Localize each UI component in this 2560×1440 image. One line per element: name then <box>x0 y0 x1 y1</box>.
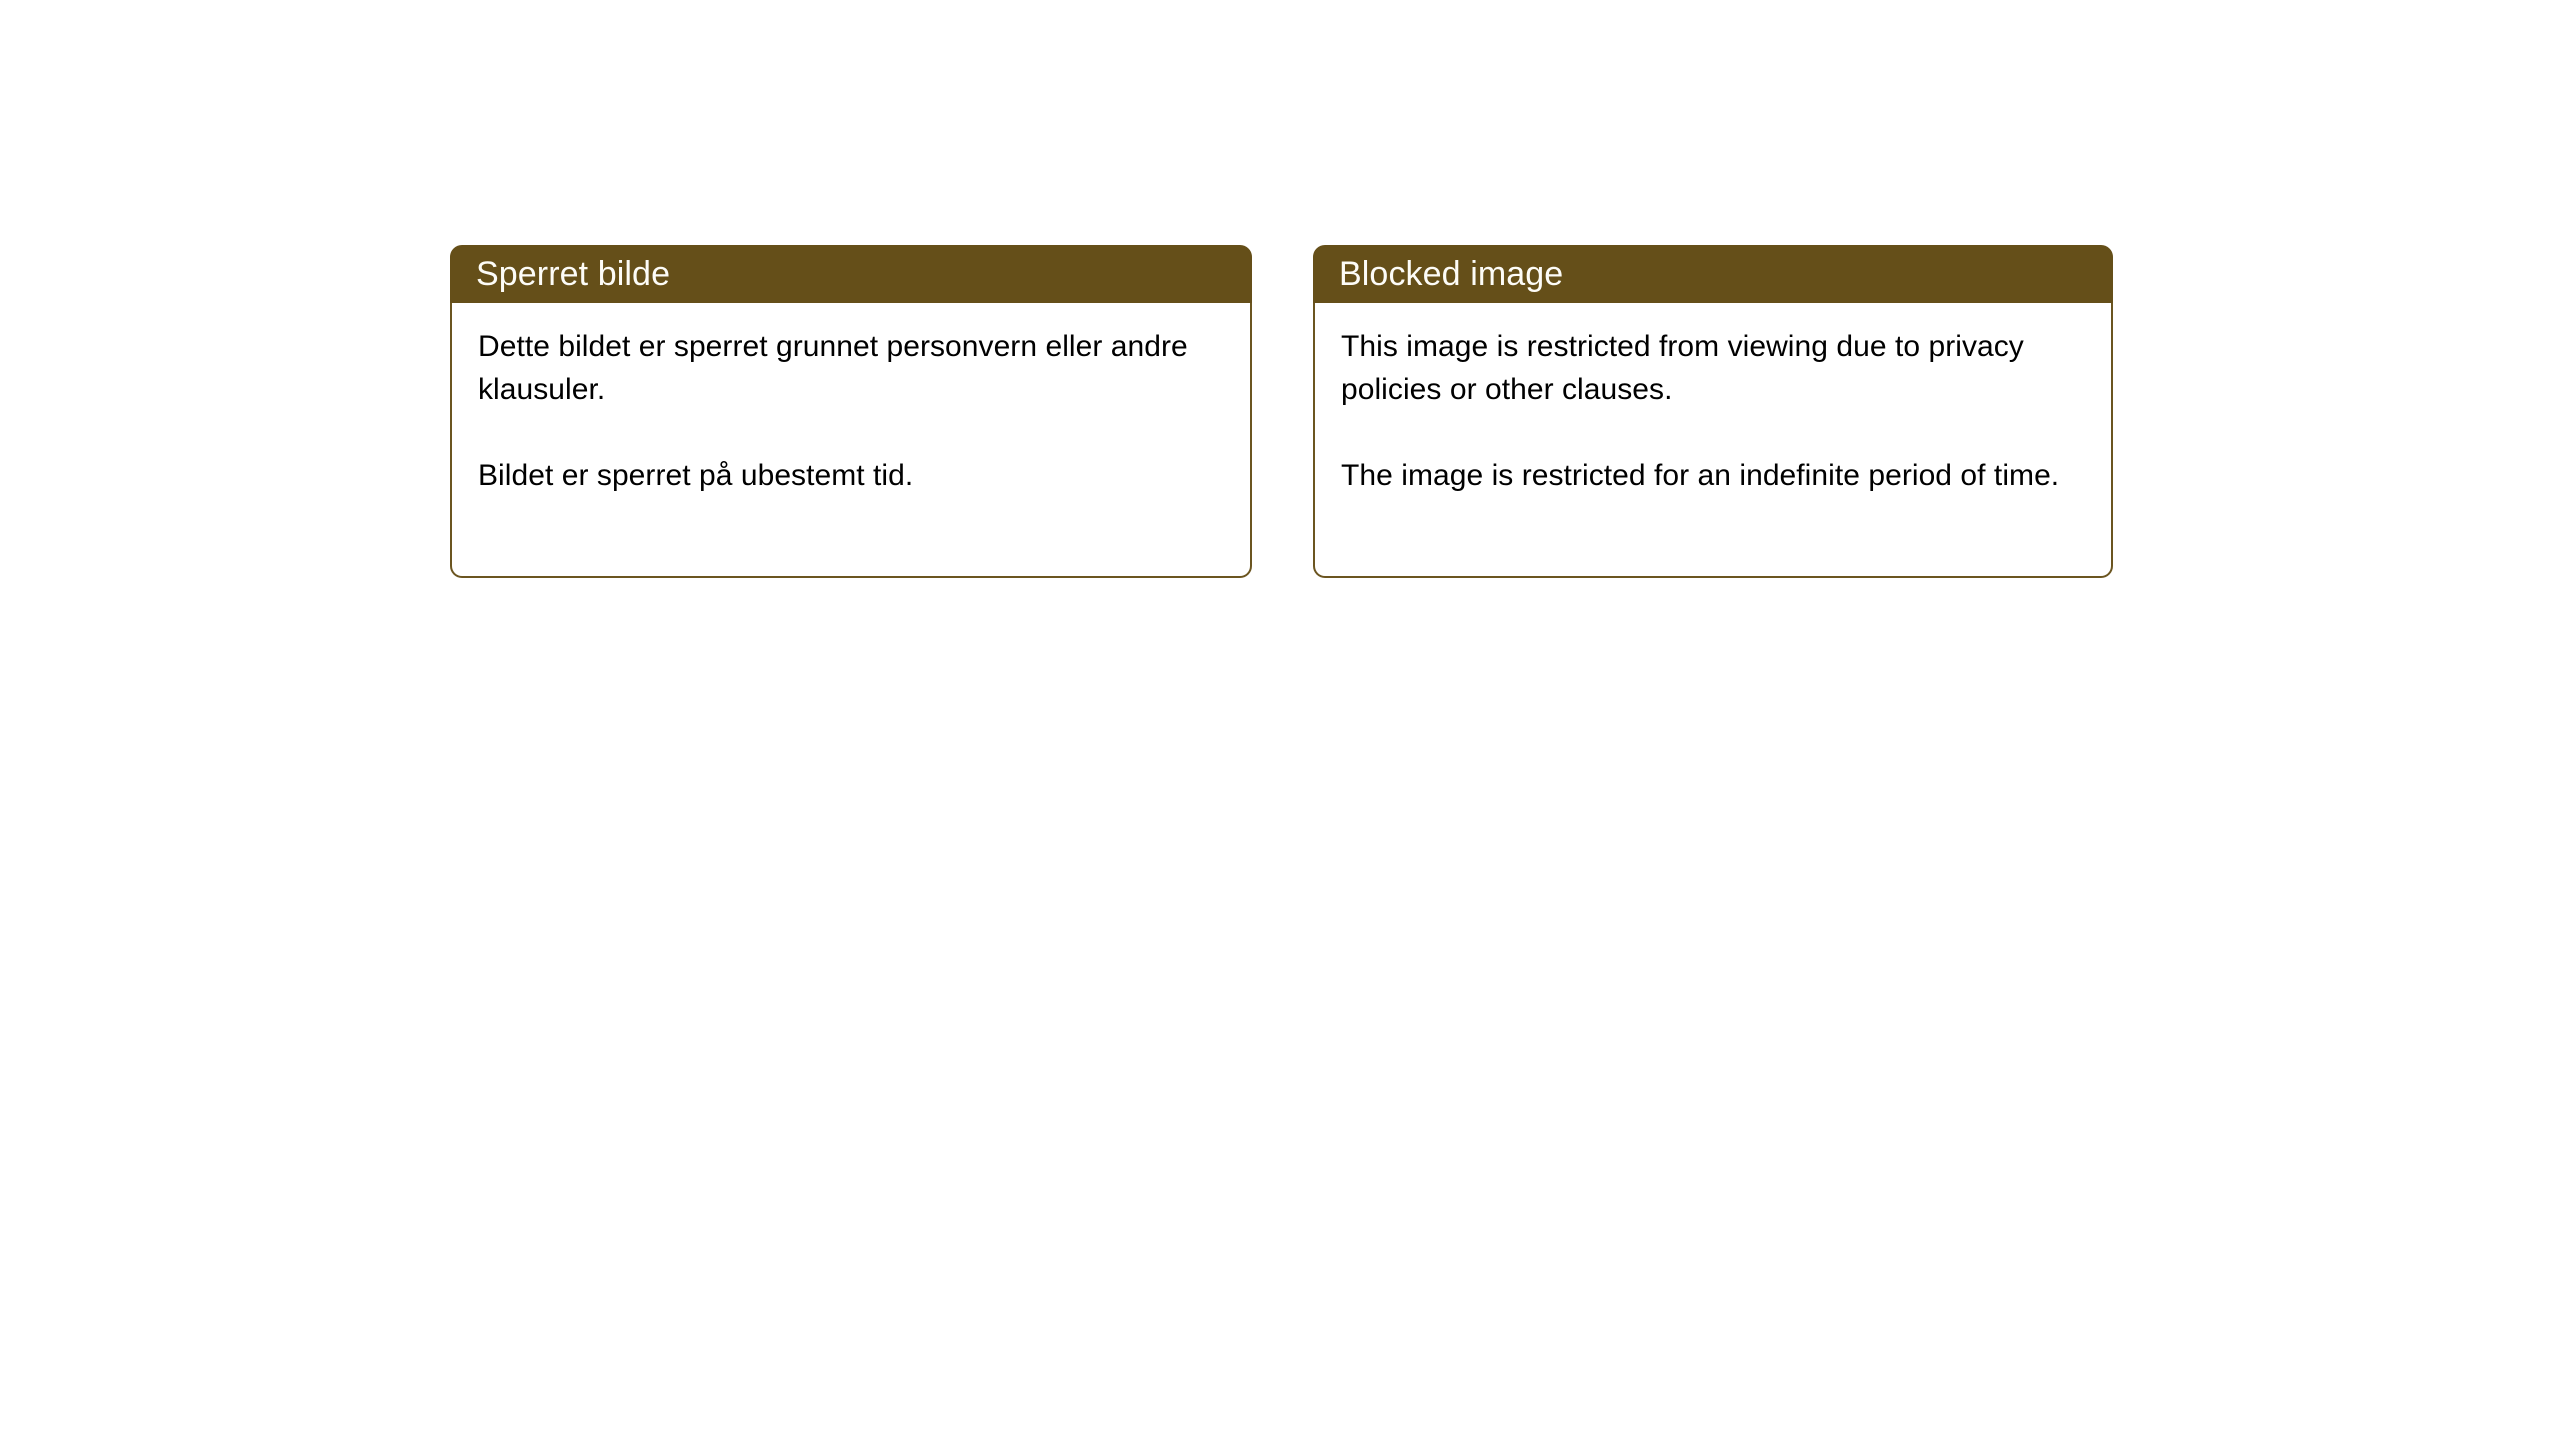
page-canvas: Sperret bilde Dette bildet er sperret gr… <box>0 0 2560 1440</box>
panel-paragraph-no-2: Bildet er sperret på ubestemt tid. <box>478 454 1224 497</box>
panel-header-en: Blocked image <box>1313 245 2113 303</box>
panel-title-no: Sperret bilde <box>476 257 670 291</box>
panel-body-en: This image is restricted from viewing du… <box>1313 303 2113 578</box>
panel-paragraph-en-1: This image is restricted from viewing du… <box>1341 325 2085 411</box>
panel-body-no: Dette bildet er sperret grunnet personve… <box>450 303 1252 578</box>
blocked-image-panel-no: Sperret bilde Dette bildet er sperret gr… <box>450 245 1252 578</box>
panel-title-en: Blocked image <box>1339 257 1563 291</box>
panel-paragraph-no-1: Dette bildet er sperret grunnet personve… <box>478 325 1224 411</box>
blocked-image-panel-en: Blocked image This image is restricted f… <box>1313 245 2113 578</box>
panel-paragraph-en-2: The image is restricted for an indefinit… <box>1341 454 2085 497</box>
panel-header-no: Sperret bilde <box>450 245 1252 303</box>
